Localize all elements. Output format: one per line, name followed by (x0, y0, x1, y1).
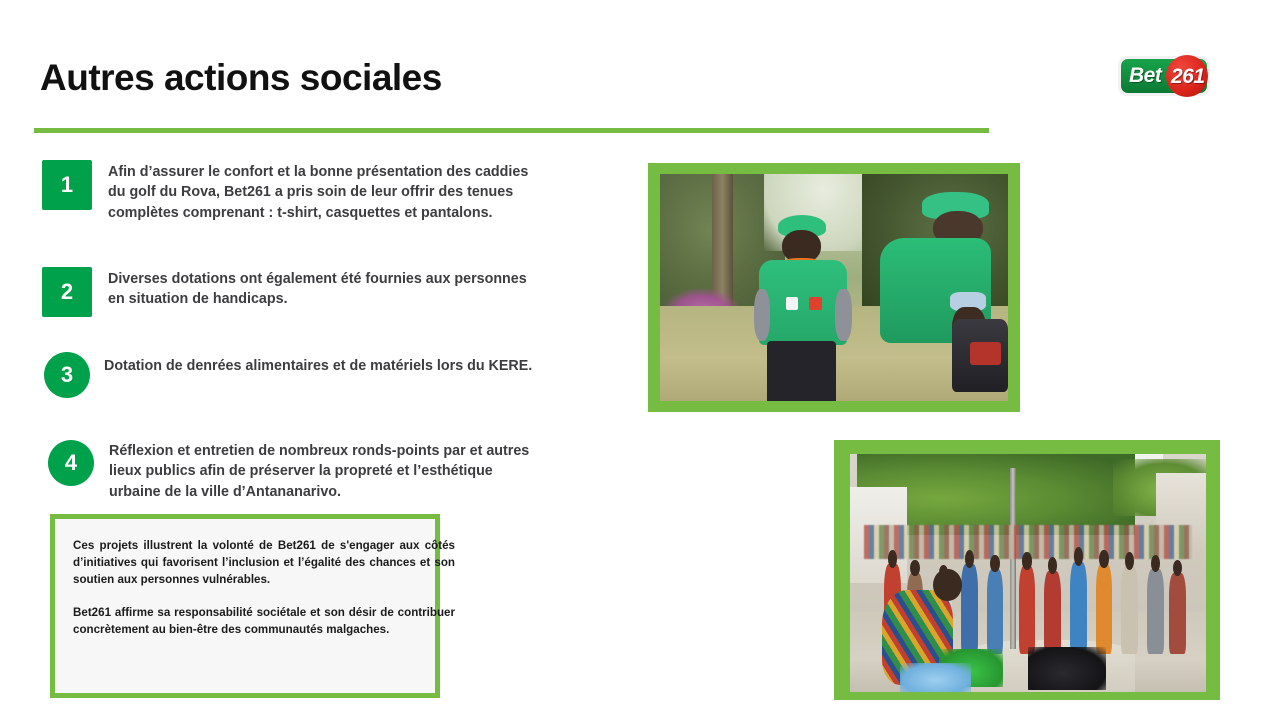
list-item-text-4: Réflexion et entretien de nombreux ronds… (109, 441, 539, 502)
person (1121, 566, 1138, 654)
list-item-badge-3: 3 (44, 352, 90, 398)
photo-golf-caddies-image (660, 174, 1008, 401)
list-item-badge-1: 1 (42, 160, 92, 210)
page-title: Autres actions sociales (40, 57, 442, 99)
title-divider (34, 128, 989, 133)
person (961, 564, 978, 654)
person (1169, 573, 1186, 654)
bet261-logo: Bet 261 (1118, 56, 1210, 96)
shirt-logo-bet261 (809, 297, 823, 310)
callout-paragraph-2: Bet261 affirme sa responsabilité sociéta… (73, 604, 455, 638)
list-item-badge-2: 2 (42, 267, 92, 317)
person (1147, 569, 1164, 654)
list-item: 1 Afin d’assurer le confort et la bonne … (42, 160, 548, 223)
shirt-logo-white (786, 297, 799, 310)
slide-root: Autres actions sociales Bet 261 1 Afin d… (0, 0, 1280, 720)
list-item-text-2: Diverses dotations ont également été fou… (108, 269, 528, 317)
blue-bags (900, 663, 971, 692)
list-item-text-3: Dotation de denrées alimentaires et de m… (104, 356, 534, 398)
person (1044, 571, 1061, 654)
photo-golf-caddies (648, 163, 1020, 412)
list-item: 4 Réflexion et entretien de nombreux ron… (48, 440, 539, 502)
tree-trunk (712, 174, 733, 306)
list-item: 3 Dotation de denrées alimentaires et de… (44, 352, 534, 398)
sleeve-right (835, 289, 852, 341)
logo-number: 261 (1171, 65, 1205, 89)
black-bags (1028, 647, 1106, 690)
person (1070, 562, 1087, 654)
sleeve-left (754, 289, 771, 341)
green-tshirt (759, 260, 847, 346)
caddie-front (750, 215, 854, 401)
person (987, 569, 1004, 654)
photo-aid-distribution (834, 440, 1220, 700)
black-pants (767, 341, 836, 401)
list-item-badge-4: 4 (48, 440, 94, 486)
conclusion-callout: Ces projets illustrent la volonté de Bet… (50, 514, 440, 698)
person (1019, 566, 1036, 654)
callout-paragraph-1: Ces projets illustrent la volonté de Bet… (73, 537, 455, 588)
golf-bag-accent (970, 342, 1001, 365)
list-item-text-1: Afin d’assurer le confort et la bonne pr… (108, 162, 548, 223)
photo-aid-distribution-image (850, 454, 1206, 692)
list-item: 2 Diverses dotations ont également été f… (42, 267, 528, 317)
logo-wordmark: Bet (1129, 64, 1161, 88)
person (1096, 564, 1113, 654)
